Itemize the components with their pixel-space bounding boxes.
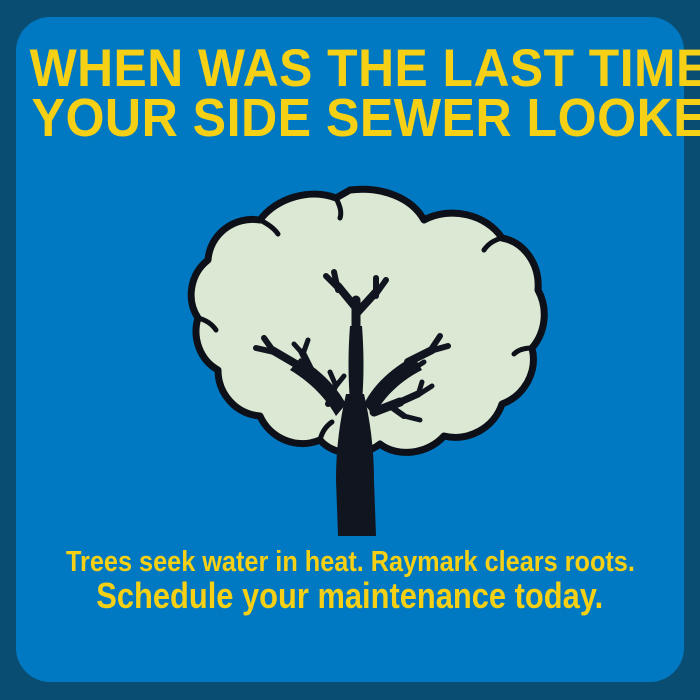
headline-line-1: WHEN WAS THE LAST TIME YOU HAD — [30, 44, 700, 93]
tagline: Trees seek water in heat. Raymark clears… — [0, 548, 700, 614]
tagline-line-1: Trees seek water in heat. Raymark clears… — [66, 548, 635, 578]
page-title: WHEN WAS THE LAST TIME YOU HAD YOUR SIDE… — [0, 44, 700, 144]
headline-line-2: YOUR SIDE SEWER LOOKED AT? — [32, 93, 700, 143]
tagline-line-2: Schedule your maintenance today. — [97, 578, 604, 615]
tree-illustration — [150, 180, 550, 540]
poster-canvas: WHEN WAS THE LAST TIME YOU HAD YOUR SIDE… — [0, 0, 700, 700]
